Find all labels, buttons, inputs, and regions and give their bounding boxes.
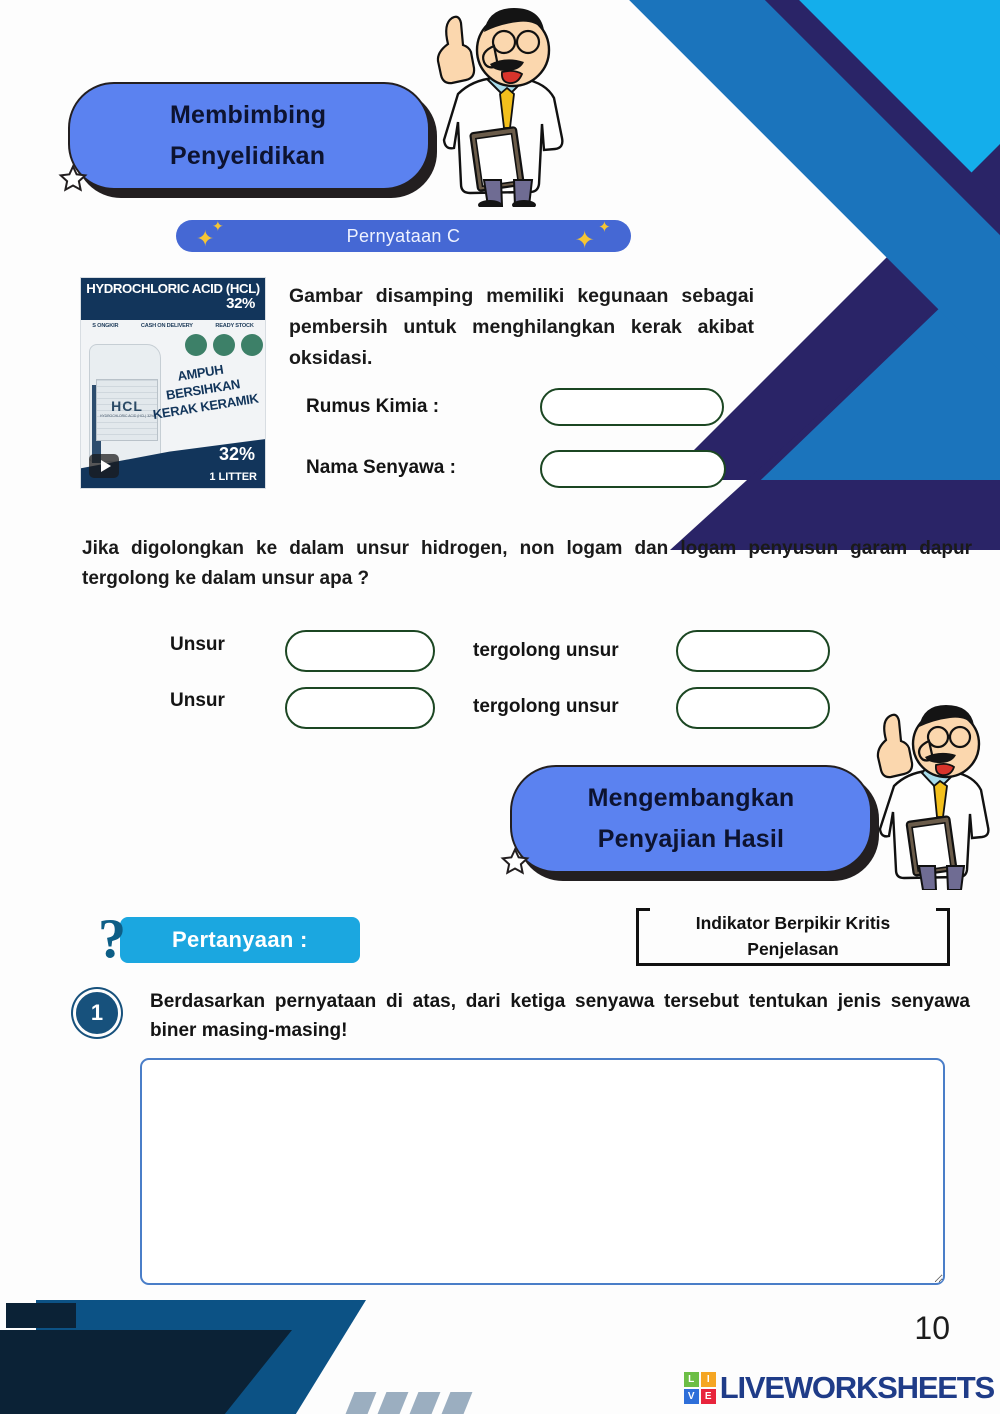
rumus-kimia-label: Rumus Kimia : xyxy=(306,396,439,418)
question-1-text: Berdasarkan pernyataan di atas, dari ket… xyxy=(150,987,970,1045)
logo-tile-e: E xyxy=(701,1389,716,1404)
hcl-badge-row: S ONGKIR CASH ON DELIVERY READY STOCK xyxy=(81,323,265,329)
liveworksheets-logo-tiles: L I V E xyxy=(684,1372,716,1404)
page-number: 10 xyxy=(914,1310,950,1347)
grouping-question-paragraph: Jika digolongkan ke dalam unsur hidrogen… xyxy=(82,534,972,594)
statement-badge-label: Pernyataan C xyxy=(347,226,461,247)
indikator-line2: Penjelasan xyxy=(747,936,838,962)
sparkle-icon: ✦ xyxy=(212,218,224,235)
banner-2-line2: Penyajian Hasil xyxy=(598,819,784,860)
nama-senyawa-label: Nama Senyawa : xyxy=(306,457,456,479)
liveworksheets-logo: L I V E LIVEWORKSHEETS xyxy=(684,1370,994,1406)
banner-2-line1: Mengembangkan xyxy=(588,778,795,819)
logo-tile-v: V xyxy=(684,1389,699,1404)
play-icon[interactable] xyxy=(89,454,119,478)
bracket-right xyxy=(936,908,950,966)
nama-senyawa-input[interactable] xyxy=(540,450,726,488)
unsur-label-row-2: Unsur xyxy=(170,690,225,712)
hcl-badge-0: S ONGKIR xyxy=(92,323,118,329)
indikator-content: Indikator Berpikir Kritis Penjelasan xyxy=(650,908,936,966)
sparkle-icon: ✦ xyxy=(575,226,595,255)
hcl-badge-2: READY STOCK xyxy=(215,323,253,329)
section-banner-membimbing-penyelidikan: Membimbing Penyelidikan xyxy=(68,82,430,190)
unsur-input-row-1[interactable] xyxy=(285,630,435,672)
scientist-character-illustration xyxy=(418,2,588,207)
footer-stripe xyxy=(346,1392,377,1414)
hcl-seal-icon xyxy=(213,334,235,356)
indikator-berpikir-kritis-box: Indikator Berpikir Kritis Penjelasan xyxy=(636,908,950,966)
hcl-seal-icon xyxy=(241,334,263,356)
scientist-character-illustration-2 xyxy=(860,700,1000,890)
intro-paragraph: Gambar disamping memiliki kegunaan sebag… xyxy=(289,281,754,374)
hcl-product-title: HYDROCHLORIC ACID (HCL) xyxy=(86,281,259,296)
pertanyaan-pill: Pertanyaan : xyxy=(120,917,360,963)
footer-dark-chip xyxy=(6,1303,76,1328)
section-banner-mengembangkan-penyajian-hasil: Mengembangkan Penyajian Hasil xyxy=(510,765,872,873)
tergolong-unsur-label-row-2: tergolong unsur xyxy=(473,696,619,718)
question-mark-icon: ? xyxy=(98,911,146,969)
hcl-product-title-bar: HYDROCHLORIC ACID (HCL) 32% xyxy=(81,278,265,320)
footer-stripe xyxy=(378,1392,409,1414)
banner-1-line2: Penyelidikan xyxy=(170,136,325,177)
hcl-badge-1: CASH ON DELIVERY xyxy=(141,323,193,329)
liveworksheets-wordmark: LIVEWORKSHEETS xyxy=(720,1370,994,1406)
unsur-label-row-1: Unsur xyxy=(170,634,225,656)
pertanyaan-badge: Pertanyaan : ? xyxy=(98,917,360,963)
banner-1-line1: Membimbing xyxy=(170,95,326,136)
unsur-input-row-2[interactable] xyxy=(285,687,435,729)
star-icon xyxy=(58,164,88,194)
bracket-left xyxy=(636,908,650,966)
tergolong-unsur-label-row-1: tergolong unsur xyxy=(473,640,619,662)
footer-stripe xyxy=(442,1392,473,1414)
hcl-seal-icon xyxy=(185,334,207,356)
hcl-product-image: HYDROCHLORIC ACID (HCL) 32% S ONGKIR CAS… xyxy=(80,277,266,489)
worksheet-page: Membimbing Penyelidikan xyxy=(0,0,1000,1414)
tergolong-unsur-input-row-2[interactable] xyxy=(676,687,830,729)
hcl-footer-percent: 32% xyxy=(219,444,255,465)
footer-stripe xyxy=(410,1392,441,1414)
logo-tile-l: L xyxy=(684,1372,699,1387)
hcl-footer-volume: 1 LITTER xyxy=(209,471,257,483)
indikator-line1: Indikator Berpikir Kritis xyxy=(696,910,891,936)
hcl-product-percent: 32% xyxy=(81,295,265,312)
question-1-answer-textarea[interactable] xyxy=(140,1058,945,1285)
logo-tile-i: I xyxy=(701,1372,716,1387)
tergolong-unsur-input-row-1[interactable] xyxy=(676,630,830,672)
statement-badge-pernyataan-c: ✦ ✦ Pernyataan C ✦ ✦ xyxy=(176,220,631,252)
pertanyaan-label: Pertanyaan : xyxy=(172,927,308,953)
sparkle-icon: ✦ xyxy=(598,218,611,236)
star-icon xyxy=(500,847,530,877)
question-number-badge: 1 xyxy=(76,992,118,1034)
rumus-kimia-input[interactable] xyxy=(540,388,724,426)
